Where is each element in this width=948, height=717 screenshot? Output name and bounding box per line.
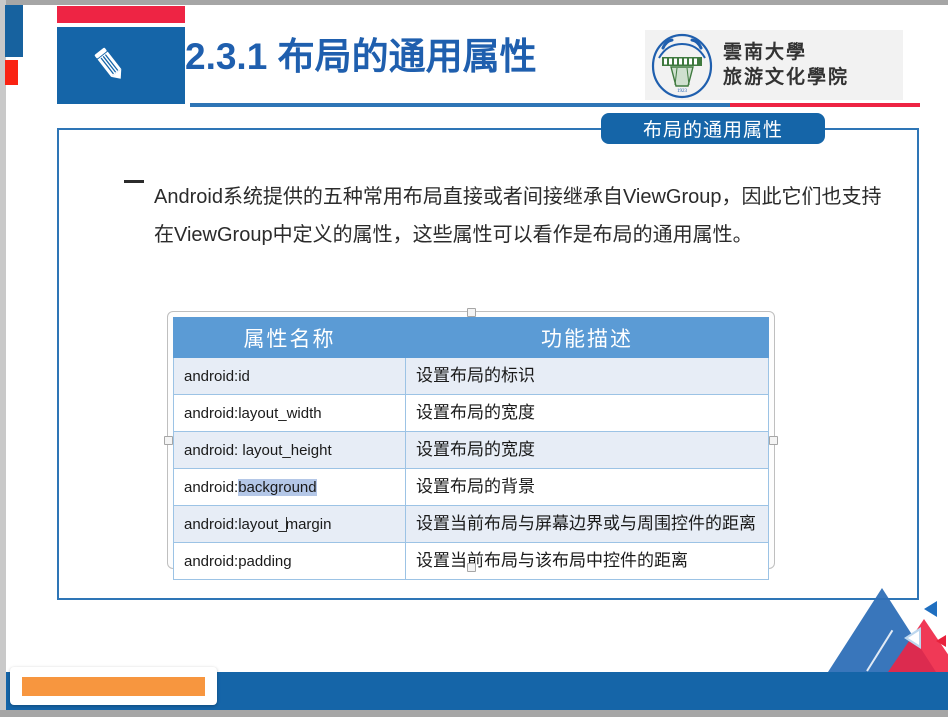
table-cell-desc[interactable]: 设置布局的标识 [406,358,769,395]
attributes-table[interactable]: 属性名称 功能描述 android:id 设置布局的标识 android:lay… [173,317,769,580]
decoration-triangle-mini-blue [924,601,937,617]
page-title: 2.3.1 布局的通用属性 [185,38,537,75]
presentation-slide: 2.3.1 布局的通用属性 1923 [0,0,948,717]
table-cell-desc[interactable]: 设置当前布局与该布局中控件的距离 [406,543,769,580]
resize-handle-top[interactable] [467,308,476,317]
window-edge-bottom [0,710,948,717]
table-row[interactable]: android:background 设置布局的背景 [174,469,769,506]
decoration-left-red-block [5,60,18,85]
title-underline-red [730,103,920,107]
title-icon-box [57,27,185,104]
table-cell-desc[interactable]: 设置当前布局与屏幕边界或与周围控件的距离 [406,506,769,543]
body-segment-android: Android [154,186,223,208]
decoration-triangle-outline-inner [908,631,919,645]
table-cell-desc[interactable]: 设置布局的宽度 [406,395,769,432]
body-segment-5: 中定义的属性，这些属性可以看作是布局的通用属性。 [273,222,753,246]
table-cell-name[interactable]: android:layout_margin [174,506,406,543]
body-paragraph: Android系统提供的五种常用布局直接或者间接继承自ViewGroup，因此它… [154,178,896,254]
bullet-dash-icon [124,180,144,183]
table-cell-desc[interactable]: 设置布局的宽度 [406,432,769,469]
table-header-desc: 功能描述 [406,318,769,358]
cell-text-before-caret: android:layout_ [184,516,287,533]
table-row[interactable]: android:layout_width 设置布局的宽度 [174,395,769,432]
section-banner: 布局的通用属性 [601,113,825,144]
cell-text-prefix: android: [184,479,238,496]
decoration-title-red-bar [57,6,185,23]
table-cell-name[interactable]: android:id [174,358,406,395]
university-name: 雲南大學 旅游文化學院 [719,40,903,90]
svg-text:1923: 1923 [677,89,688,94]
resize-handle-right[interactable] [769,436,778,445]
table-cell-name[interactable]: android:padding [174,543,406,580]
window-edge-top [0,0,948,5]
window-edge-left [0,0,6,717]
decoration-triangle-mini-red [936,635,946,647]
decoration-left-blue-bracket [5,5,23,57]
university-name-line1: 雲南大學 [723,40,903,65]
content-panel: Android系统提供的五种常用布局直接或者间接继承自ViewGroup，因此它… [57,128,919,600]
table-header-name: 属性名称 [174,318,406,358]
table-cell-desc[interactable]: 设置布局的背景 [406,469,769,506]
university-name-line2: 旅游文化學院 [723,65,903,90]
footer-orange-bar [22,677,205,696]
title-underline-blue [190,103,730,107]
table-row[interactable]: android:id 设置布局的标识 [174,358,769,395]
table-row[interactable]: android: layout_height 设置布局的宽度 [174,432,769,469]
resize-handle-left[interactable] [164,436,173,445]
table-cell-name[interactable]: android:layout_width [174,395,406,432]
resize-handle-bottom[interactable] [467,563,476,572]
body-segment-viewgroup-1: ViewGroup [623,186,722,208]
university-emblem-icon: 1923 [645,30,719,100]
table-cell-name[interactable]: android: layout_height [174,432,406,469]
cell-text-after-caret: margin [286,516,332,533]
selected-text-range: background [238,479,316,496]
attributes-table-object[interactable]: 属性名称 功能描述 android:id 设置布局的标识 android:lay… [167,311,775,569]
university-logo: 1923 雲南大學 旅游文化學院 [645,30,903,100]
decoration-left-blue-bracket-top [5,5,22,11]
table-header-row: 属性名称 功能描述 [174,318,769,358]
table-cell-name[interactable]: android:background [174,469,406,506]
pencil-icon [87,43,133,87]
body-segment-1: 系统提供的五种常用布局直接或者间接继承自 [223,184,623,208]
footer-card [10,667,217,705]
table-row[interactable]: android:padding 设置当前布局与该布局中控件的距离 [174,543,769,580]
table-row[interactable]: android:layout_margin 设置当前布局与屏幕边界或与周围控件的… [174,506,769,543]
body-segment-viewgroup-2: ViewGroup [174,224,273,246]
